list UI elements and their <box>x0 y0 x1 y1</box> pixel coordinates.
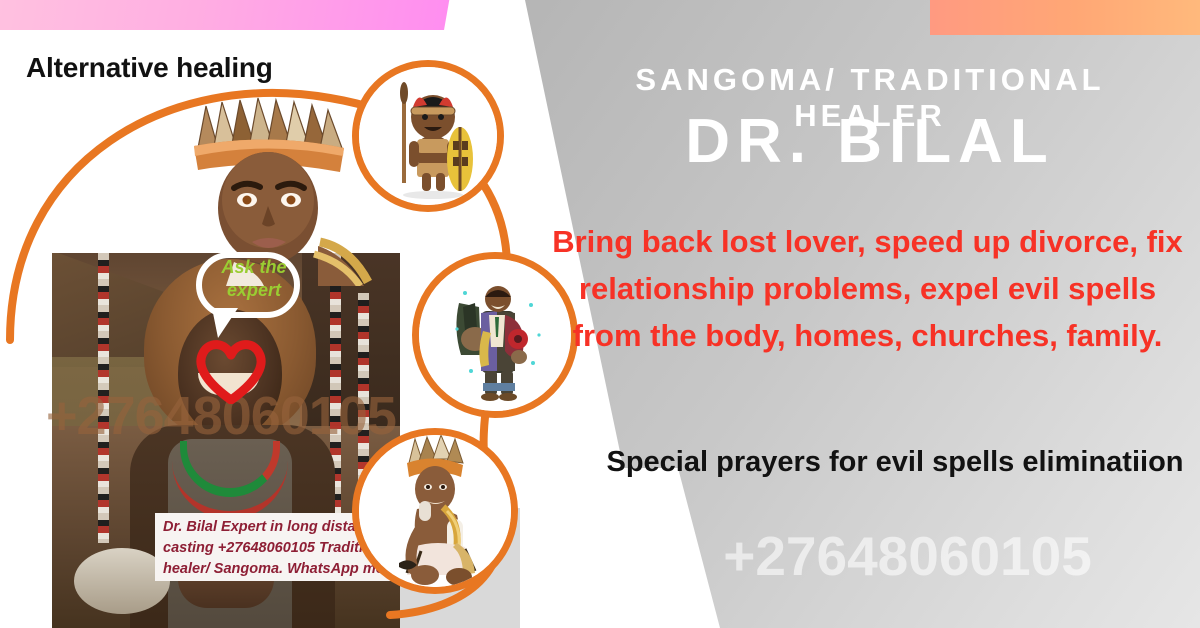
badge-crouching-sangoma <box>352 428 518 594</box>
doctor-name-title: DR. BILAL <box>560 106 1180 177</box>
page-title: Alternative healing <box>26 52 273 84</box>
zulu-warrior-illustration <box>359 67 497 205</box>
services-text: Bring back lost lover, speed up divorce,… <box>545 218 1190 359</box>
speech-bubble-label: Ask the expert <box>204 256 304 302</box>
poster-canvas: Alternative healing +27648060105 Ask the… <box>0 0 1200 628</box>
heart-icon <box>195 338 267 404</box>
special-prayers-text: Special prayers for evil spells eliminat… <box>600 440 1190 484</box>
badge-zulu-warrior <box>352 60 504 212</box>
crouching-sangoma-illustration <box>359 435 511 587</box>
top-pink-bar <box>0 0 450 30</box>
top-orange-bar <box>930 0 1200 35</box>
right-watermark-phone: +27648060105 <box>620 524 1195 588</box>
